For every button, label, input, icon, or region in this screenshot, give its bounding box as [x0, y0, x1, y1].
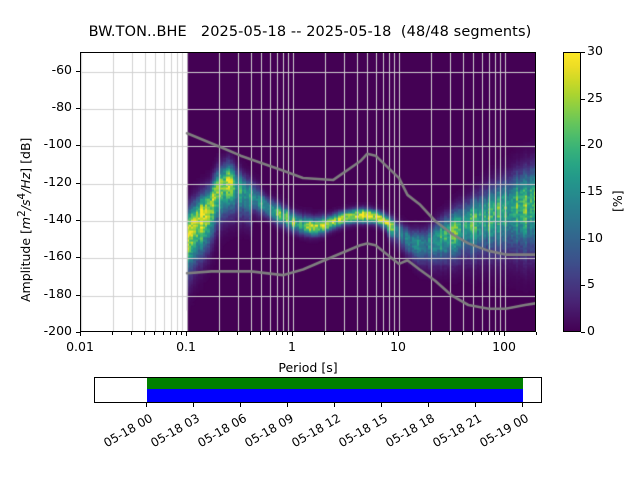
colorbar-tick-label: 25: [587, 90, 603, 105]
x-tick-mark: [269, 332, 270, 335]
x-tick-mark: [382, 332, 383, 335]
timeline-tick-mark: [287, 403, 288, 407]
y-tick-mark: [76, 145, 80, 146]
colorbar-tick-mark: [581, 52, 585, 53]
noise-model-curves: [81, 53, 535, 331]
x-tick-mark: [343, 332, 344, 335]
timeline-tick-mark: [240, 403, 241, 407]
x-tick-label: 100: [464, 339, 544, 354]
x-tick-mark: [356, 332, 357, 335]
x-tick-mark: [80, 332, 81, 336]
x-tick-mark: [170, 332, 171, 335]
y-tick-mark: [76, 71, 80, 72]
ppsd-figure: BW.TON..BHE 2025-05-18 -- 2025-05-18 (48…: [0, 0, 640, 480]
x-tick-mark: [144, 332, 145, 335]
colorbar-tick-label: 10: [587, 230, 603, 245]
x-tick-mark: [488, 332, 489, 335]
timeline-tick-mark: [146, 403, 147, 407]
x-tick-label: 0.01: [40, 339, 120, 354]
timeline-tick-mark: [381, 403, 382, 407]
x-tick-mark: [163, 332, 164, 335]
timeline-tick-mark: [475, 403, 476, 407]
colorbar-tick-mark: [581, 99, 585, 100]
y-tick-label: -60: [16, 62, 72, 77]
colorbar-tick-mark: [581, 332, 585, 333]
colorbar-tick-label: 30: [587, 43, 603, 58]
y-tick-label: -80: [16, 99, 72, 114]
x-tick-mark: [366, 332, 367, 335]
colorbar-label: [%]: [610, 190, 625, 212]
colorbar-tick-label: 0: [587, 323, 595, 338]
x-tick-mark: [260, 332, 261, 335]
x-tick-mark: [504, 332, 505, 336]
x-tick-mark: [176, 332, 177, 335]
y-axis-label: Amplitude [m2/s4/Hz] [dB]: [16, 138, 33, 302]
data-coverage-bar: [147, 378, 523, 389]
y-tick-mark: [76, 108, 80, 109]
timeline-tick-mark: [334, 403, 335, 407]
x-tick-mark: [292, 332, 293, 336]
timeline-axes: [94, 377, 542, 403]
x-tick-label: 10: [358, 339, 438, 354]
ppsd-axes: [80, 52, 536, 332]
x-tick-mark: [499, 332, 500, 335]
psd-segments-bar: [147, 389, 523, 402]
x-tick-mark: [282, 332, 283, 335]
x-tick-mark: [494, 332, 495, 335]
x-tick-mark: [287, 332, 288, 335]
timeline-tick-mark: [428, 403, 429, 407]
x-tick-mark: [393, 332, 394, 335]
colorbar-tick-label: 15: [587, 183, 603, 198]
x-tick-mark: [276, 332, 277, 335]
colorbar: [563, 52, 581, 332]
x-tick-mark: [388, 332, 389, 335]
timeline-tick-mark: [522, 403, 523, 407]
x-tick-mark: [250, 332, 251, 335]
x-tick-mark: [430, 332, 431, 335]
x-tick-mark: [218, 332, 219, 335]
x-tick-mark: [154, 332, 155, 335]
colorbar-tick-mark: [581, 145, 585, 146]
colorbar-gradient: [564, 53, 580, 331]
x-tick-mark: [481, 332, 482, 335]
x-axis-label: Period [s]: [80, 360, 536, 375]
y-tick-label: -200: [16, 323, 72, 338]
y-tick-mark: [76, 257, 80, 258]
y-tick-mark: [76, 183, 80, 184]
x-tick-mark: [181, 332, 182, 335]
y-tick-mark: [76, 220, 80, 221]
x-tick-mark: [131, 332, 132, 335]
x-tick-label: 1: [252, 339, 332, 354]
x-tick-label: 0.1: [146, 339, 226, 354]
x-tick-mark: [449, 332, 450, 335]
x-tick-mark: [186, 332, 187, 336]
timeline-tick-mark: [193, 403, 194, 407]
x-tick-mark: [472, 332, 473, 335]
figure-title: BW.TON..BHE 2025-05-18 -- 2025-05-18 (48…: [0, 24, 620, 40]
x-tick-mark: [536, 332, 537, 335]
colorbar-tick-label: 5: [587, 276, 595, 291]
x-tick-mark: [375, 332, 376, 335]
x-tick-mark: [398, 332, 399, 336]
colorbar-tick-label: 20: [587, 136, 603, 151]
colorbar-tick-mark: [581, 239, 585, 240]
plot-clip-region: [81, 53, 535, 331]
x-tick-mark: [324, 332, 325, 335]
y-tick-mark: [76, 295, 80, 296]
colorbar-tick-mark: [581, 285, 585, 286]
colorbar-tick-mark: [581, 192, 585, 193]
x-tick-mark: [237, 332, 238, 335]
x-tick-mark: [112, 332, 113, 335]
x-tick-mark: [462, 332, 463, 335]
